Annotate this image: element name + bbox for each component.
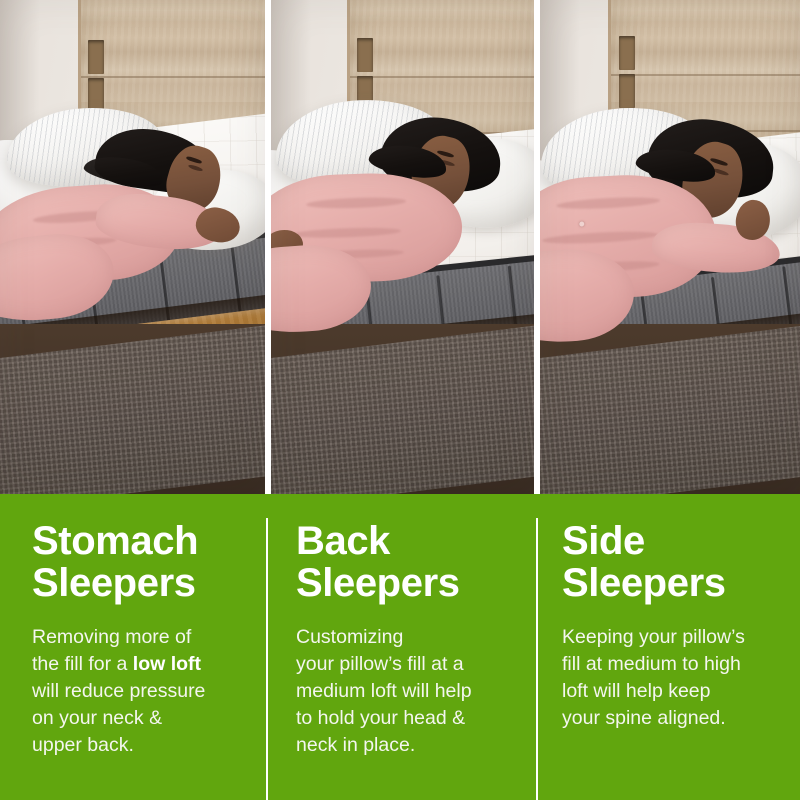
body-side-sleepers: Keeping your pillow’s fill at medium to … [562,624,788,732]
photo-stomach-sleeper [0,0,265,494]
heading-stomach-sleepers: Stomach Sleepers [32,520,254,604]
body-stomach-bold: low loft [133,653,201,675]
photo-side-sleeper [540,0,800,494]
body-stomach-sleepers: Removing more of the fill for a low loft… [32,624,254,759]
photo-back-sleeper [271,0,534,494]
body-side-before: Keeping your pillow’s fill at medium to … [562,626,745,729]
info-column-back: Back Sleepers Customizing your pillow’s … [268,494,538,800]
body-back-sleepers: Customizing your pillow’s fill at a medi… [296,624,524,759]
photo-strip [0,0,800,494]
info-column-stomach: Stomach Sleepers Removing more of the fi… [0,494,268,800]
body-back-before: Customizing your pillow’s fill at a medi… [296,626,472,756]
heading-side-sleepers: Side Sleepers [562,520,788,604]
info-panel: Stomach Sleepers Removing more of the fi… [0,494,800,800]
sleeper-position-infographic: Stomach Sleepers Removing more of the fi… [0,0,800,800]
column-divider-1 [266,518,268,800]
info-column-side: Side Sleepers Keeping your pillow’s fill… [538,494,800,800]
column-divider-2 [536,518,538,800]
heading-back-sleepers: Back Sleepers [296,520,524,604]
body-stomach-after: will reduce pressure on your neck & uppe… [32,680,205,756]
